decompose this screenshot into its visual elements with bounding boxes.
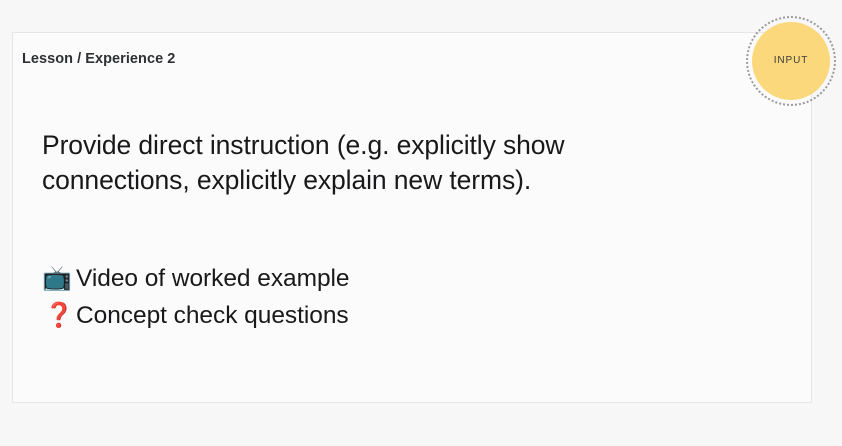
red-question-mark-icon: ❓ (42, 297, 76, 334)
input-badge[interactable]: INPUT (746, 16, 836, 106)
badge-circle: INPUT (752, 22, 830, 100)
lesson-card: Lesson / Experience 2 Provide direct ins… (12, 32, 812, 403)
television-icon: 📺 (42, 260, 76, 297)
list-item-label: Concept check questions (76, 297, 349, 334)
badge-label: INPUT (774, 56, 809, 66)
list-item: ❓ Concept check questions (42, 297, 350, 334)
list-item-label: Video of worked example (76, 260, 350, 297)
card-header: Lesson / Experience 2 (22, 48, 802, 70)
list-item: 📺 Video of worked example (42, 260, 350, 297)
breadcrumb[interactable]: Lesson / Experience 2 (22, 48, 802, 70)
card-body: Provide direct instruction (e.g. explici… (42, 128, 771, 198)
activity-list: 📺 Video of worked example ❓ Concept chec… (42, 260, 350, 334)
lead-paragraph: Provide direct instruction (e.g. explici… (42, 128, 642, 198)
